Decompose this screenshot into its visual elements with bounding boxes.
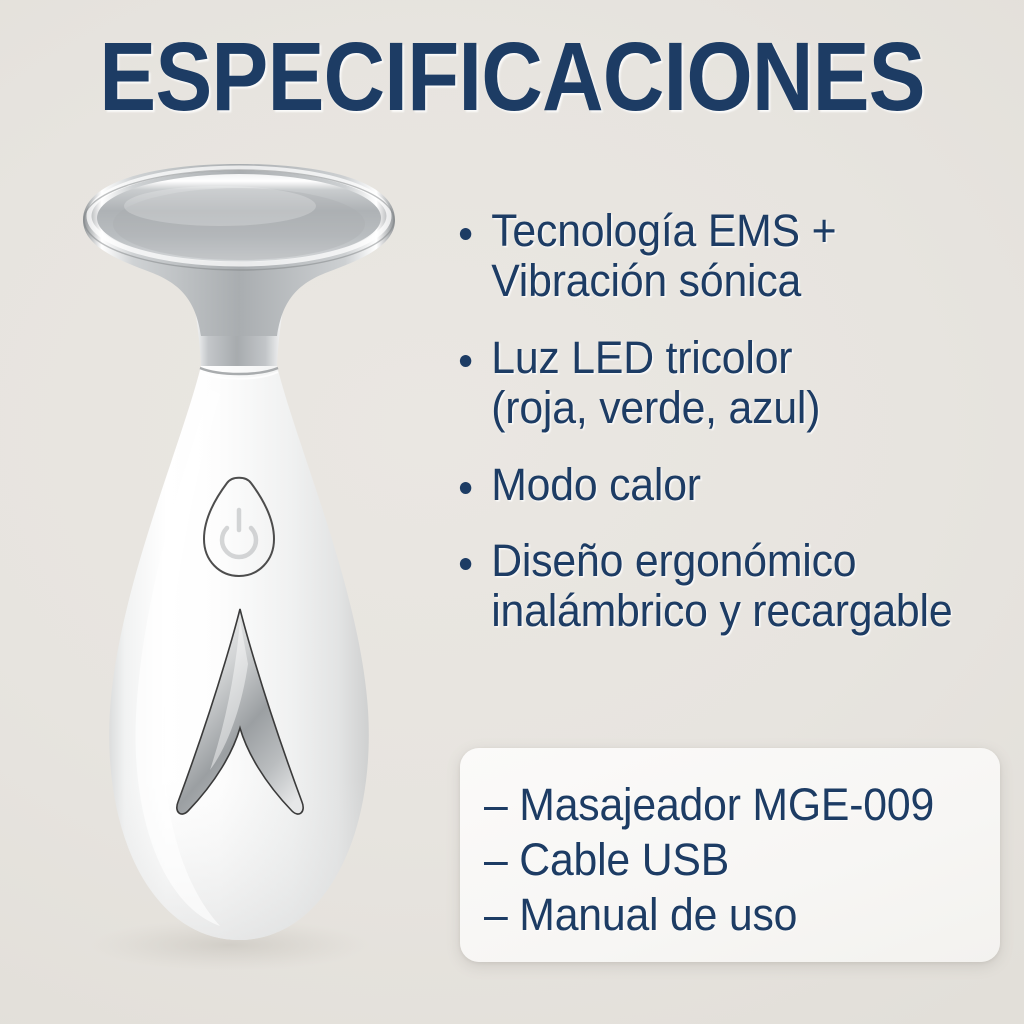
spec-line-1: Modo calor [491, 460, 990, 510]
specifications-list: Tecnología EMS + Vibración sónica Luz LE… [458, 206, 1018, 637]
included-item: – Manual de uso [484, 888, 934, 943]
product-image [60, 150, 440, 970]
spec-line-1: Luz LED tricolor [491, 333, 990, 383]
bullet-dot-icon [460, 355, 471, 367]
spec-item-heat: Modo calor [458, 460, 990, 510]
spec-line-2: inalámbrico y recargable [491, 586, 990, 636]
spec-line-1: Diseño ergonómico [491, 536, 990, 586]
spec-item-design: Diseño ergonómico inalámbrico y recargab… [458, 536, 990, 637]
included-item: – Cable USB [484, 833, 934, 888]
spec-item-ems: Tecnología EMS + Vibración sónica [458, 206, 990, 307]
specifications-infographic: ESPECIFICACIONES [0, 0, 1024, 1024]
spec-line-2: Vibración sónica [491, 256, 990, 306]
included-item: – Masajeador MGE-009 [484, 778, 934, 833]
page-title: ESPECIFICACIONES [61, 28, 962, 125]
spec-line-1: Tecnología EMS + [491, 206, 990, 256]
bullet-dot-icon [460, 482, 471, 494]
spec-item-led: Luz LED tricolor (roja, verde, azul) [458, 333, 990, 434]
spec-line-2: (roja, verde, azul) [491, 383, 990, 433]
included-items-list: – Masajeador MGE-009 – Cable USB – Manua… [484, 778, 958, 943]
included-items-panel: – Masajeador MGE-009 – Cable USB – Manua… [460, 748, 1000, 962]
bullet-dot-icon [460, 228, 471, 240]
bullet-dot-icon [460, 558, 471, 570]
